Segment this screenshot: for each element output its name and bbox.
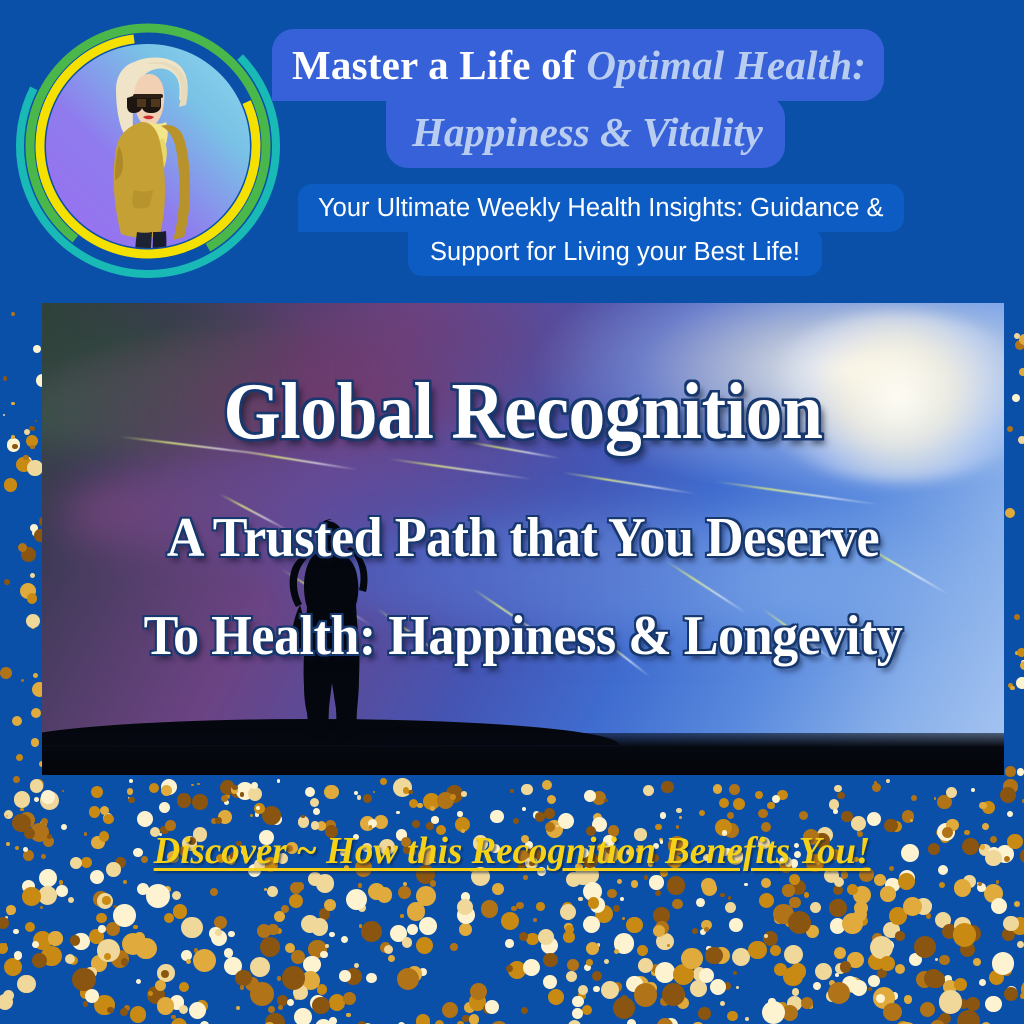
confetti-dot [982, 801, 996, 815]
confetti-dot [302, 981, 305, 984]
confetti-dot [834, 785, 842, 793]
confetti-dot [27, 593, 38, 604]
confetti-dot [317, 984, 328, 995]
confetti-dot [122, 933, 144, 955]
confetti-dot [1017, 768, 1024, 776]
confetti-dot [787, 996, 802, 1011]
confetti-dot [282, 966, 306, 990]
confetti-dot [791, 880, 806, 895]
confetti-dot [516, 902, 524, 910]
confetti-dot [645, 982, 657, 994]
headline-badge-line1: Master a Life of Optimal Health: [272, 29, 884, 101]
confetti-dot [924, 969, 943, 988]
confetti-dot [789, 897, 801, 909]
confetti-dot [872, 933, 884, 945]
confetti-dot [470, 983, 487, 1000]
confetti-dot [673, 989, 685, 1001]
confetti-dot [651, 968, 658, 975]
confetti-dot [4, 810, 14, 820]
confetti-dot [100, 806, 109, 815]
confetti-dot [104, 953, 111, 960]
confetti-dot [842, 913, 863, 934]
confetti-dot [755, 791, 763, 799]
confetti-dot [732, 948, 750, 966]
confetti-dot [224, 800, 229, 805]
confetti-dot [301, 815, 305, 819]
confetti-dot [920, 971, 931, 982]
confetti-dot [926, 913, 932, 919]
confetti-dot [764, 934, 768, 938]
logo-avatar[interactable] [6, 4, 290, 288]
confetti-dot [416, 886, 436, 906]
confetti-dot [430, 880, 436, 886]
confetti-dot [536, 902, 544, 910]
confetti-dot [240, 985, 245, 990]
confetti-dot [31, 625, 35, 629]
confetti-dot [977, 882, 980, 885]
confetti-dot [661, 781, 674, 794]
confetti-dot [329, 1017, 337, 1024]
confetti-dot [248, 787, 262, 801]
confetti-dot [38, 886, 57, 905]
confetti-dot [790, 963, 807, 980]
confetti-dot [358, 883, 363, 888]
confetti-dot [667, 944, 670, 947]
confetti-dot [578, 991, 586, 999]
confetti-dot [1016, 677, 1024, 689]
confetti-dot [32, 530, 38, 536]
confetti-dot [538, 929, 554, 945]
confetti-dot [310, 798, 320, 808]
confetti-dot [566, 872, 581, 887]
confetti-dot [3, 943, 8, 948]
confetti-dot [702, 881, 717, 896]
confetti-dot [868, 953, 886, 971]
confetti-dot [128, 797, 135, 804]
confetti-dot [523, 959, 540, 976]
confetti-dot [459, 923, 472, 936]
confetti-dot [278, 1005, 283, 1010]
confetti-dot [354, 791, 358, 795]
confetti-dot [562, 902, 573, 913]
confetti-dot [268, 1006, 275, 1013]
confetti-dot [343, 992, 356, 1005]
confetti-dot [83, 1001, 89, 1007]
confetti-dot [621, 995, 628, 1002]
confetti-dot [20, 583, 36, 599]
confetti-dot [662, 983, 685, 1006]
confetti-dot [0, 667, 12, 679]
confetti-dot [883, 940, 894, 951]
confetti-dot [260, 937, 280, 957]
confetti-dot [157, 997, 175, 1015]
confetti-dot [281, 905, 289, 913]
confetti-dot [33, 779, 45, 791]
confetti-dot [585, 916, 596, 927]
confetti-dot [407, 902, 425, 920]
confetti-dot [774, 963, 788, 977]
confetti-dot [285, 943, 295, 953]
confetti-dot [177, 793, 191, 807]
confetti-dot [13, 929, 19, 935]
confetti-dot [220, 780, 235, 795]
confetti-dot [547, 795, 557, 805]
confetti-dot [236, 1006, 240, 1010]
confetti-dot [225, 794, 230, 799]
confetti-dot [6, 482, 13, 489]
confetti-dot [644, 875, 648, 879]
confetti-dot [692, 928, 698, 934]
confetti-dot [301, 971, 320, 990]
confetti-dot [179, 982, 190, 993]
confetti-dot [345, 968, 362, 985]
confetti-dot [1020, 661, 1024, 671]
confetti-dot [358, 904, 366, 912]
confetti-dot [192, 794, 207, 809]
confetti-dot [963, 925, 981, 943]
confetti-dot [792, 988, 800, 996]
confetti-dot [276, 928, 282, 934]
confetti-dot [521, 1007, 528, 1014]
confetti-dot [505, 939, 514, 948]
confetti-dot [267, 886, 278, 897]
confetti-dot [111, 950, 129, 968]
confetti-dot [768, 998, 776, 1006]
confetti-dot [886, 779, 890, 783]
confetti-dot [543, 975, 557, 989]
confetti-dot [70, 935, 81, 946]
confetti-dot [12, 444, 18, 450]
confetti-dot [870, 936, 894, 960]
confetti-dot [161, 785, 172, 796]
confetti-dot [91, 955, 107, 971]
confetti-dot [377, 887, 392, 902]
confetti-dot [33, 673, 38, 678]
confetti-dot [614, 933, 635, 954]
confetti-dot [89, 806, 101, 818]
confetti-dot [729, 784, 740, 795]
confetti-dot [877, 969, 886, 978]
confetti-dot [777, 790, 787, 800]
confetti-dot [588, 897, 600, 909]
confetti-dot [902, 810, 915, 823]
confetti-dot [30, 779, 43, 792]
confetti-dot [847, 952, 864, 969]
confetti-dot [934, 797, 937, 800]
confetti-dot [380, 942, 391, 953]
confetti-dot [407, 924, 418, 935]
confetti-dot [481, 900, 499, 918]
subtitle-text-line2: Support for Living your Best Life! [430, 238, 800, 267]
confetti-dot [407, 966, 423, 982]
confetti-dot [313, 808, 321, 816]
confetti-dot [586, 959, 593, 966]
confetti-dot [329, 932, 335, 938]
confetti-dot [388, 955, 395, 962]
confetti-dot [1014, 333, 1020, 339]
confetti-dot [772, 795, 780, 803]
confetti-dot [35, 420, 37, 422]
ground-horizon [42, 733, 1004, 775]
confetti-dot [442, 1002, 458, 1018]
confetti-dot [898, 873, 915, 890]
confetti-dot [957, 1010, 980, 1024]
confetti-dot [271, 814, 282, 825]
confetti-dot [513, 818, 519, 824]
confetti-dot [840, 961, 851, 972]
confetti-dot [324, 899, 336, 911]
confetti-dot [130, 1006, 147, 1023]
confetti-dot [245, 977, 259, 991]
confetti-dot [733, 971, 737, 975]
confetti-dot [14, 951, 23, 960]
confetti-dot [402, 937, 412, 947]
confetti-dot [462, 1015, 470, 1023]
confetti-dot [657, 1018, 673, 1024]
confetti-dot [34, 797, 39, 802]
confetti-dot [1020, 848, 1024, 864]
confetti-dot [592, 971, 603, 982]
confetti-dot [384, 945, 393, 954]
confetti-dot [397, 968, 419, 990]
confetti-dot [277, 779, 280, 782]
confetti-dot [880, 956, 895, 971]
confetti-dot [851, 980, 867, 996]
confetti-dot [785, 919, 793, 927]
confetti-dot [308, 940, 327, 959]
confetti-dot [12, 716, 22, 726]
confetti-dot [20, 456, 32, 468]
confetti-dot [21, 679, 24, 682]
confetti-dot [810, 902, 821, 913]
confetti-dot [727, 1011, 738, 1022]
confetti-dot [430, 806, 435, 811]
confetti-dot [677, 997, 689, 1009]
confetti-dot [593, 813, 602, 822]
confetti-dot [891, 992, 899, 1000]
confetti-dot [138, 816, 145, 823]
confetti-dot [22, 880, 35, 893]
confetti-dot [254, 803, 265, 814]
confetti-dot [7, 909, 13, 915]
confetti-dot [593, 986, 599, 992]
confetti-dot [725, 902, 737, 914]
confetti-dot [959, 999, 969, 1009]
confetti-dot [416, 937, 434, 955]
confetti-dot [729, 918, 743, 932]
confetti-dot [164, 886, 172, 894]
confetti-dot [311, 918, 329, 936]
confetti-dot [736, 986, 739, 989]
confetti-dot [1000, 787, 1017, 804]
confetti-dot [701, 920, 712, 931]
confetti-dot [179, 1005, 188, 1014]
confetti-dot [1014, 614, 1020, 620]
confetti-dot [26, 614, 40, 628]
confetti-dot [215, 817, 222, 824]
confetti-dot [960, 942, 975, 957]
confetti-dot [676, 808, 682, 814]
confetti-dot [868, 975, 880, 987]
confetti-dot [403, 882, 407, 886]
confetti-dot [0, 994, 13, 1011]
subtitle-badge-line1: Your Ultimate Weekly Health Insights: Gu… [298, 184, 904, 232]
confetti-dot [693, 967, 707, 981]
confetti-dot [172, 891, 181, 900]
confetti-dot [565, 925, 575, 935]
confetti-dot [274, 911, 285, 922]
confetti-dot [558, 813, 574, 829]
confetti-dot [380, 778, 387, 785]
confetti-dot [939, 955, 950, 966]
confetti-dot [847, 884, 858, 895]
confetti-dot [597, 943, 601, 947]
confetti-dot [291, 950, 305, 964]
confetti-dot [18, 459, 27, 468]
confetti-dot [672, 899, 682, 909]
confetti-dot [164, 913, 174, 923]
confetti-dot [224, 957, 242, 975]
confetti-dot [103, 814, 114, 825]
confetti-dot [815, 963, 832, 980]
confetti-dot [416, 1014, 430, 1024]
confetti-dot [874, 874, 886, 886]
confetti-dot [770, 945, 781, 956]
confetti-dot [834, 947, 846, 959]
confetti-dot [161, 779, 177, 795]
confetti-dot [622, 917, 626, 921]
confetti-dot [604, 799, 608, 803]
cta-text[interactable]: Discover ~ How this Recognition Benefits… [15, 829, 1008, 873]
confetti-dot [701, 878, 716, 893]
confetti-dot [457, 811, 462, 816]
confetti-dot [72, 968, 96, 992]
confetti-dot [542, 780, 552, 790]
confetti-dot [3, 990, 14, 1001]
confetti-dot [963, 875, 976, 888]
confetti-dot [16, 754, 23, 761]
confetti-dot [713, 947, 730, 964]
confetti-dot [590, 897, 606, 913]
confetti-dot [251, 782, 258, 789]
confetti-dot [390, 925, 407, 942]
confetti-dot [5, 916, 8, 919]
confetti-dot [211, 818, 217, 824]
confetti-dot [48, 931, 62, 945]
confetti-dot [572, 1008, 583, 1019]
confetti-dot [22, 887, 41, 906]
confetti-dot [911, 903, 918, 910]
confetti-dot [155, 980, 166, 991]
confetti-dot [290, 882, 302, 894]
confetti-dot [264, 888, 268, 892]
confetti-dot [1015, 651, 1019, 655]
confetti-dot [1010, 686, 1015, 691]
confetti-dot [129, 779, 133, 783]
confetti-dot [124, 1005, 130, 1011]
confetti-dot [302, 818, 307, 823]
confetti-dot [854, 908, 867, 921]
confetti-dot [567, 959, 579, 971]
hero-image: Global Recognition A Trusted Path that Y… [42, 303, 1004, 775]
confetti-dot [1020, 993, 1024, 999]
confetti-dot [655, 921, 670, 936]
confetti-dot [181, 950, 192, 961]
confetti-dot [363, 794, 372, 803]
confetti-dot [181, 917, 203, 939]
confetti-dot [85, 967, 97, 979]
confetti-dot [1014, 901, 1020, 907]
confetti-dot [256, 806, 260, 810]
confetti-dot [14, 791, 31, 808]
confetti-dot [651, 964, 660, 973]
confetti-dot [325, 944, 330, 949]
confetti-dot [25, 922, 35, 932]
confetti-dot [232, 785, 238, 791]
confetti-dot [29, 426, 35, 432]
confetti-dot [6, 815, 8, 817]
confetti-dot [643, 785, 654, 796]
confetti-dot [30, 524, 38, 532]
confetti-dot [937, 795, 952, 810]
confetti-dot [312, 997, 329, 1014]
confetti-dot [984, 884, 1003, 903]
confetti-dot [148, 991, 153, 996]
confetti-dot [133, 925, 138, 930]
confetti-dot [1018, 436, 1024, 444]
confetti-dot [583, 916, 600, 933]
confetti-dot [428, 927, 433, 932]
confetti-dot [18, 543, 27, 552]
confetti-dot [24, 429, 31, 436]
confetti-dot [903, 897, 922, 916]
confetti-dot [403, 787, 410, 794]
confetti-dot [189, 1002, 207, 1020]
confetti-dot [985, 996, 1001, 1012]
confetti-dot [171, 1018, 187, 1024]
confetti-dot [930, 1020, 946, 1024]
confetti-dot [194, 1004, 201, 1011]
confetti-dot [209, 927, 222, 940]
confetti-dot [835, 973, 839, 977]
confetti-dot [359, 924, 363, 928]
confetti-dot [1003, 779, 1018, 794]
confetti-dot [1001, 965, 1012, 976]
confetti-dot [704, 927, 709, 932]
confetti-dot [690, 980, 707, 997]
confetti-dot [660, 812, 667, 819]
confetti-dot [523, 875, 528, 880]
confetti-dot [16, 457, 32, 473]
confetti-dot [533, 811, 541, 819]
confetti-dot [835, 963, 846, 974]
confetti-dot [19, 812, 35, 828]
confetti-dot [744, 883, 748, 887]
confetti-dot [992, 952, 1015, 975]
confetti-dot [134, 932, 146, 944]
confetti-dot [782, 1005, 798, 1021]
confetti-dot [973, 958, 981, 966]
confetti-dot [94, 995, 115, 1016]
confetti-dot [586, 942, 599, 955]
confetti-dot [928, 903, 933, 908]
confetti-dot [583, 882, 602, 901]
confetti-dot [653, 925, 665, 937]
confetti-dot [161, 970, 169, 978]
confetti-dot [851, 818, 862, 829]
confetti-dot [837, 792, 844, 799]
confetti-dot [885, 878, 900, 893]
